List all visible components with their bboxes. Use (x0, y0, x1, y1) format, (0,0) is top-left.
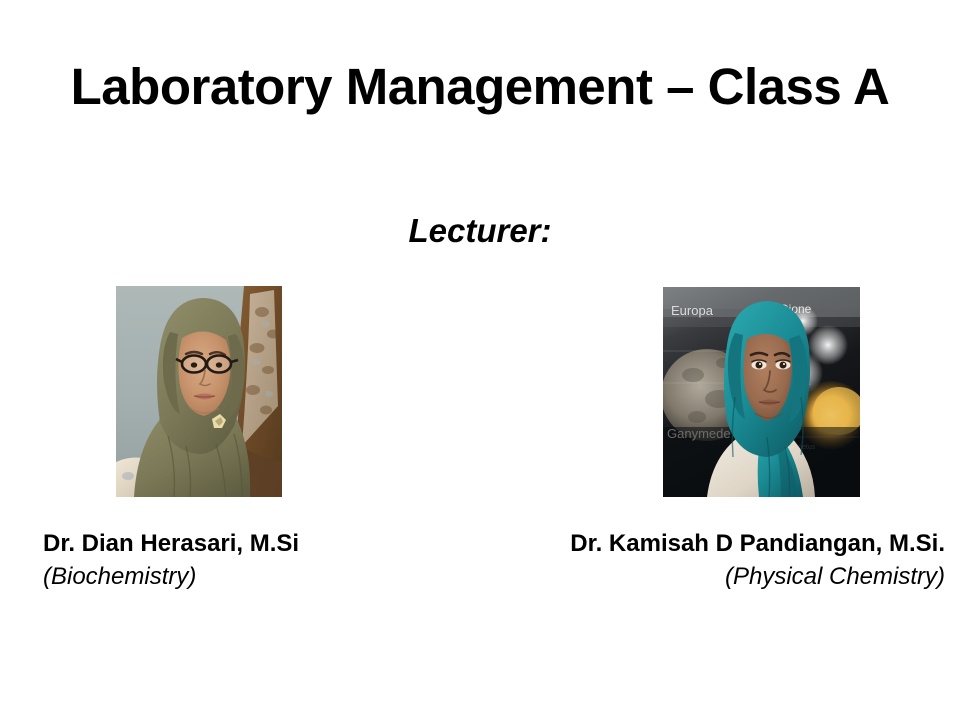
lecturer-name-left: Dr. Dian Herasari, M.Si (43, 527, 463, 560)
slide-canvas: Laboratory Management – Class A Lecturer… (0, 0, 960, 720)
portrait-kamisah-d-pandiangan-image: Europa Dione Ganymede Rhea Titan Iapetus (663, 287, 860, 497)
page-title: Laboratory Management – Class A (0, 58, 960, 116)
lecturer-caption-left: Dr. Dian Herasari, M.Si (Biochemistry) (43, 527, 463, 593)
lecturer-field-left: (Biochemistry) (43, 560, 463, 593)
poster-label-europa: Europa (671, 303, 714, 318)
lecturer-photo-left (116, 286, 282, 497)
lecturer-caption-right: Dr. Kamisah D Pandiangan, M.Si. (Physica… (500, 527, 945, 593)
lecturer-field-right: (Physical Chemistry) (500, 560, 945, 593)
lecturer-label: Lecturer: (0, 210, 960, 252)
lecturer-name-right: Dr. Kamisah D Pandiangan, M.Si. (500, 527, 945, 560)
portrait-dian-herasari-image (116, 286, 282, 497)
lecturer-photo-right: Europa Dione Ganymede Rhea Titan Iapetus (663, 287, 860, 497)
